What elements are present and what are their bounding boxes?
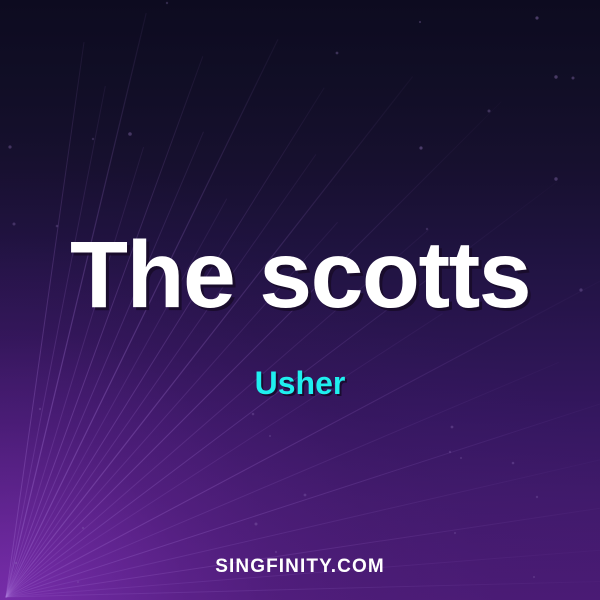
- artist-name: Usher: [0, 367, 600, 399]
- song-title: The scotts: [0, 228, 600, 323]
- site-watermark: SINGFINITY.COM: [0, 557, 600, 576]
- card-content: The scotts Usher SINGFINITY.COM: [0, 0, 600, 600]
- song-card: The scotts Usher SINGFINITY.COM: [0, 0, 600, 600]
